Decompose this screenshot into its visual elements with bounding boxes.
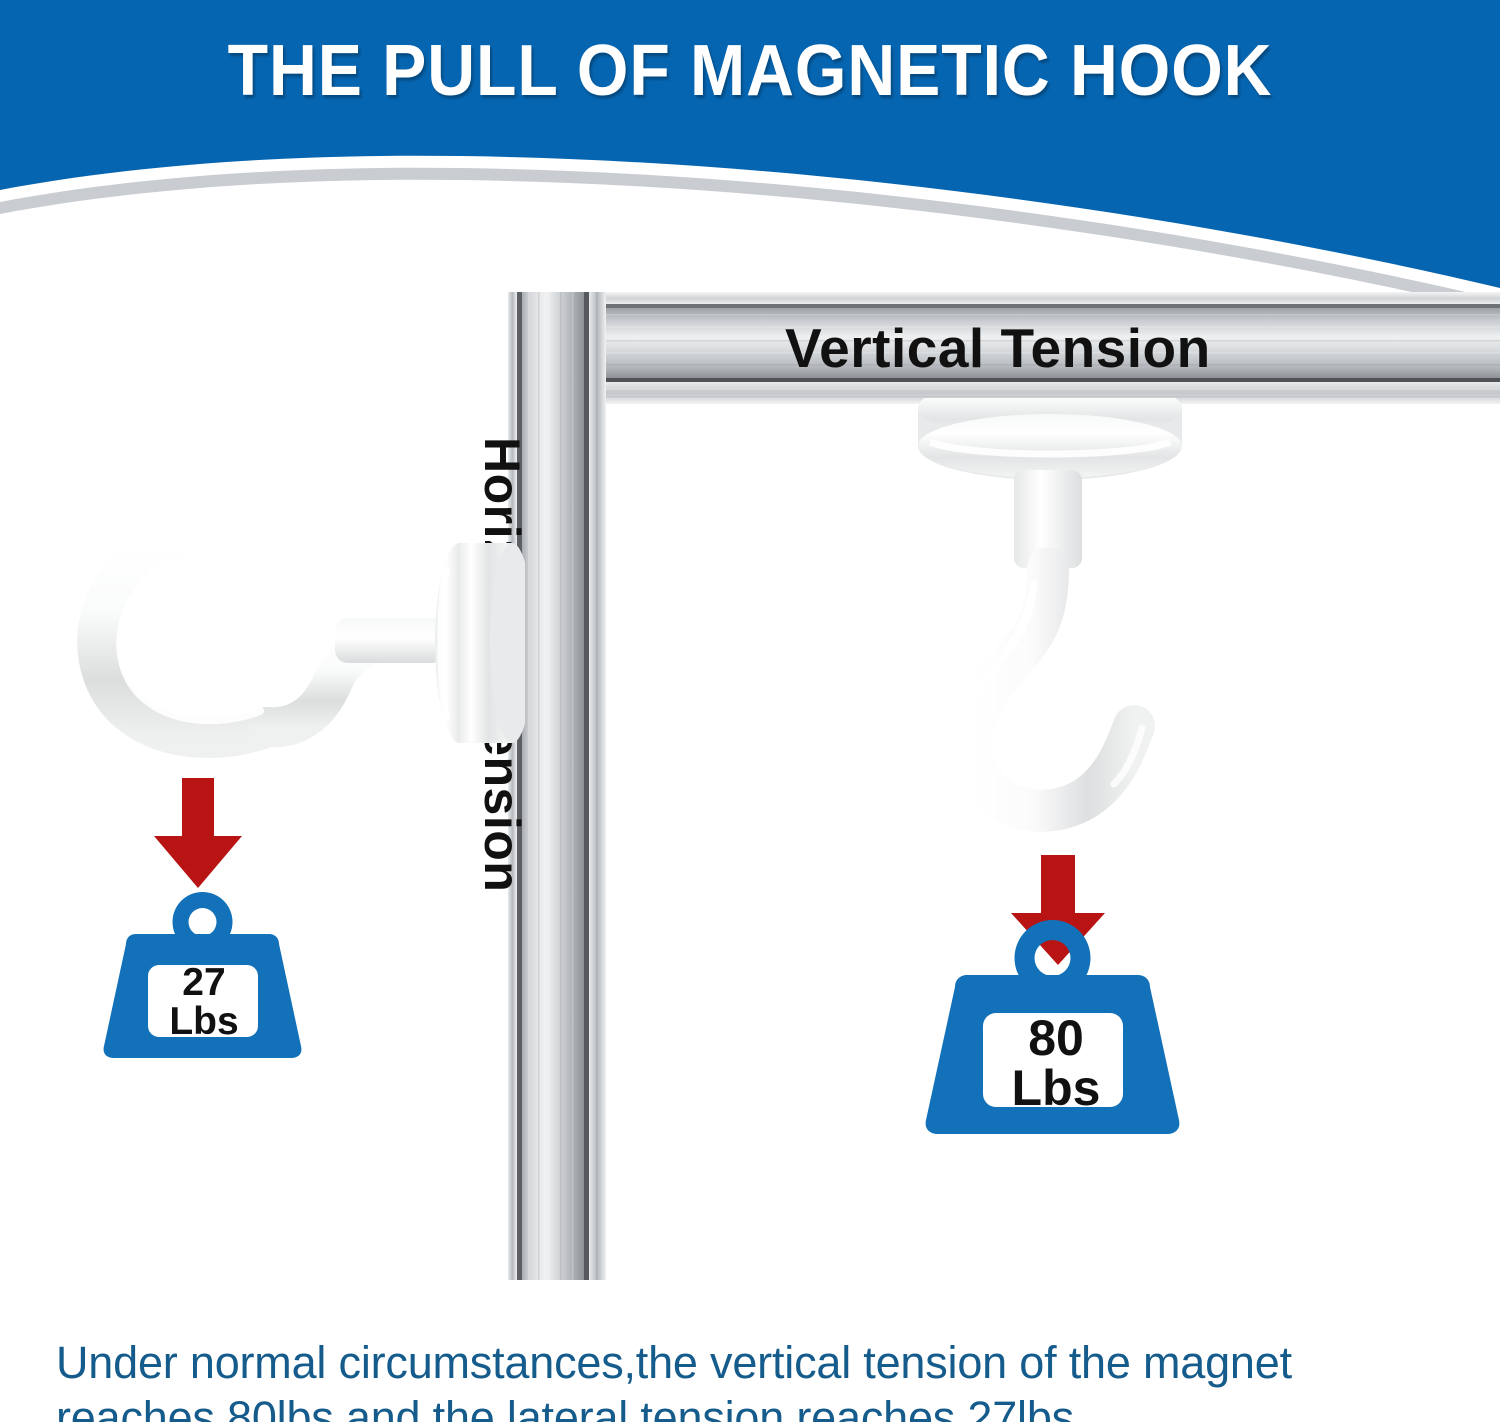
caption-line-1: Under normal circumstances,the vertical … (56, 1336, 1456, 1391)
weight-label-plate (983, 1013, 1123, 1107)
infographic-page: THE PULL OF MAGNETIC HOOK (0, 0, 1500, 1422)
weight-icon-80lbs (915, 915, 1190, 1137)
hook-curve (971, 568, 1134, 811)
weight-label-plate (148, 965, 258, 1037)
weight-icon-27lbs (95, 888, 310, 1060)
caption-line-2: reaches 80lbs and the lateral tension re… (56, 1391, 1456, 1422)
horizontal-magnetic-hook (55, 515, 525, 815)
vertical-magnetic-hook (890, 398, 1210, 858)
caption-text: Under normal circumstances,the vertical … (56, 1336, 1456, 1422)
header-banner: THE PULL OF MAGNETIC HOOK (0, 0, 1500, 310)
page-title: THE PULL OF MAGNETIC HOOK (60, 30, 1440, 112)
vertical-tension-label: Vertical Tension (785, 316, 1211, 380)
hook-stem (335, 618, 445, 663)
downward-arrow-left (152, 778, 244, 888)
